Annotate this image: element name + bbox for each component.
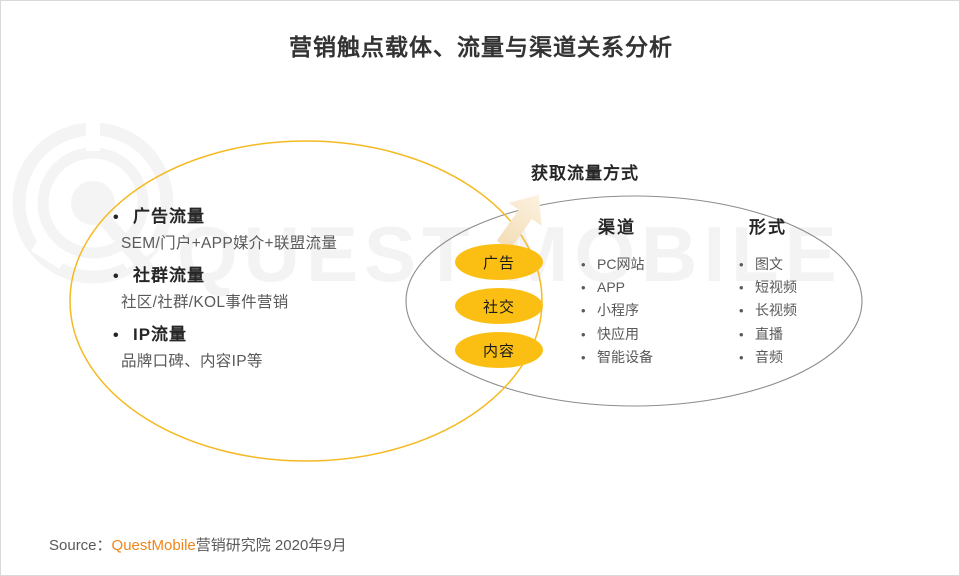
- arrow-label: 获取流量方式: [531, 159, 639, 184]
- list-item-label: 图文: [755, 253, 783, 276]
- list-item-label: 小程序: [597, 299, 639, 322]
- bullet-icon: •: [739, 347, 755, 369]
- list-item-label: 短视频: [755, 276, 797, 299]
- list-item-label: 直播: [755, 323, 783, 346]
- list-item: • 长视频: [739, 299, 797, 322]
- list-item: • 智能设备: [581, 346, 653, 369]
- source-prefix: Source：: [49, 537, 112, 554]
- list-item-label: 快应用: [597, 323, 639, 346]
- page-title: 营销触点载体、流量与渠道关系分析: [1, 28, 960, 62]
- source-suffix: 营销研究院 2020年9月: [196, 537, 347, 554]
- bullet-icon: •: [739, 324, 755, 346]
- flow-group-ad-label: 广告流量: [133, 204, 205, 230]
- intersection-pills: 广告 社交 内容: [455, 244, 543, 376]
- column-channel: 渠道 • PC网站 • APP • 小程序 • 快应用: [581, 213, 653, 369]
- flow-group-ad: • 广告流量 SEM/门户+APP媒介+联盟流量: [113, 204, 433, 256]
- flow-group-ad-detail: SEM/门户+APP媒介+联盟流量: [121, 232, 433, 256]
- list-item-label: 智能设备: [597, 346, 653, 369]
- flow-group-ip-detail: 品牌口碑、内容IP等: [121, 350, 433, 374]
- column-format-title: 形式: [739, 213, 797, 238]
- right-ellipse-content: 渠道 • PC网站 • APP • 小程序 • 快应用: [581, 213, 797, 369]
- column-channel-list: • PC网站 • APP • 小程序 • 快应用 • 智能设备: [581, 253, 653, 369]
- bullet-icon: •: [739, 300, 755, 322]
- source-line: Source：QuestMobile营销研究院 2020年9月: [49, 534, 347, 555]
- bullet-icon: •: [113, 324, 133, 348]
- flow-group-ad-heading: • 广告流量: [113, 204, 433, 230]
- pill-social[interactable]: 社交: [455, 288, 543, 324]
- list-item: • 短视频: [739, 276, 797, 299]
- bullet-icon: •: [113, 265, 133, 289]
- bullet-icon: •: [113, 206, 133, 230]
- column-format-list: • 图文 • 短视频 • 长视频 • 直播 • 音频: [739, 253, 797, 369]
- bullet-icon: •: [581, 324, 597, 346]
- column-format: 形式 • 图文 • 短视频 • 长视频 • 直播: [739, 213, 797, 369]
- list-item: • 音频: [739, 346, 797, 369]
- bullet-icon: •: [581, 300, 597, 322]
- list-item-label: APP: [597, 276, 625, 299]
- flow-group-community-label: 社群流量: [133, 263, 205, 289]
- list-item: • 小程序: [581, 299, 653, 322]
- flow-group-ip-heading: • IP流量: [113, 322, 433, 348]
- flow-group-ip-label: IP流量: [133, 322, 187, 348]
- list-item: • 快应用: [581, 323, 653, 346]
- list-item: • PC网站: [581, 253, 653, 276]
- flow-group-community-detail: 社区/社群/KOL事件营销: [121, 291, 433, 315]
- left-ellipse-content: • 广告流量 SEM/门户+APP媒介+联盟流量 • 社群流量 社区/社群/KO…: [113, 204, 433, 381]
- list-item: • APP: [581, 276, 653, 299]
- flow-group-community-heading: • 社群流量: [113, 263, 433, 289]
- list-item-label: 长视频: [755, 299, 797, 322]
- flow-group-community: • 社群流量 社区/社群/KOL事件营销: [113, 263, 433, 315]
- bullet-icon: •: [739, 277, 755, 299]
- bullet-icon: •: [581, 277, 597, 299]
- slide-canvas: QUEST MOBILE 营销触点载体、流量与渠道关系分析 • 广告流量: [0, 0, 960, 576]
- list-item-label: PC网站: [597, 253, 644, 276]
- flow-group-ip: • IP流量 品牌口碑、内容IP等: [113, 322, 433, 374]
- bullet-icon: •: [739, 254, 755, 276]
- pill-content[interactable]: 内容: [455, 332, 543, 368]
- list-item: • 直播: [739, 323, 797, 346]
- pill-advertising[interactable]: 广告: [455, 244, 543, 280]
- column-channel-title: 渠道: [581, 213, 653, 238]
- source-brand: QuestMobile: [112, 537, 196, 554]
- bullet-icon: •: [581, 254, 597, 276]
- list-item-label: 音频: [755, 346, 783, 369]
- list-item: • 图文: [739, 253, 797, 276]
- bullet-icon: •: [581, 347, 597, 369]
